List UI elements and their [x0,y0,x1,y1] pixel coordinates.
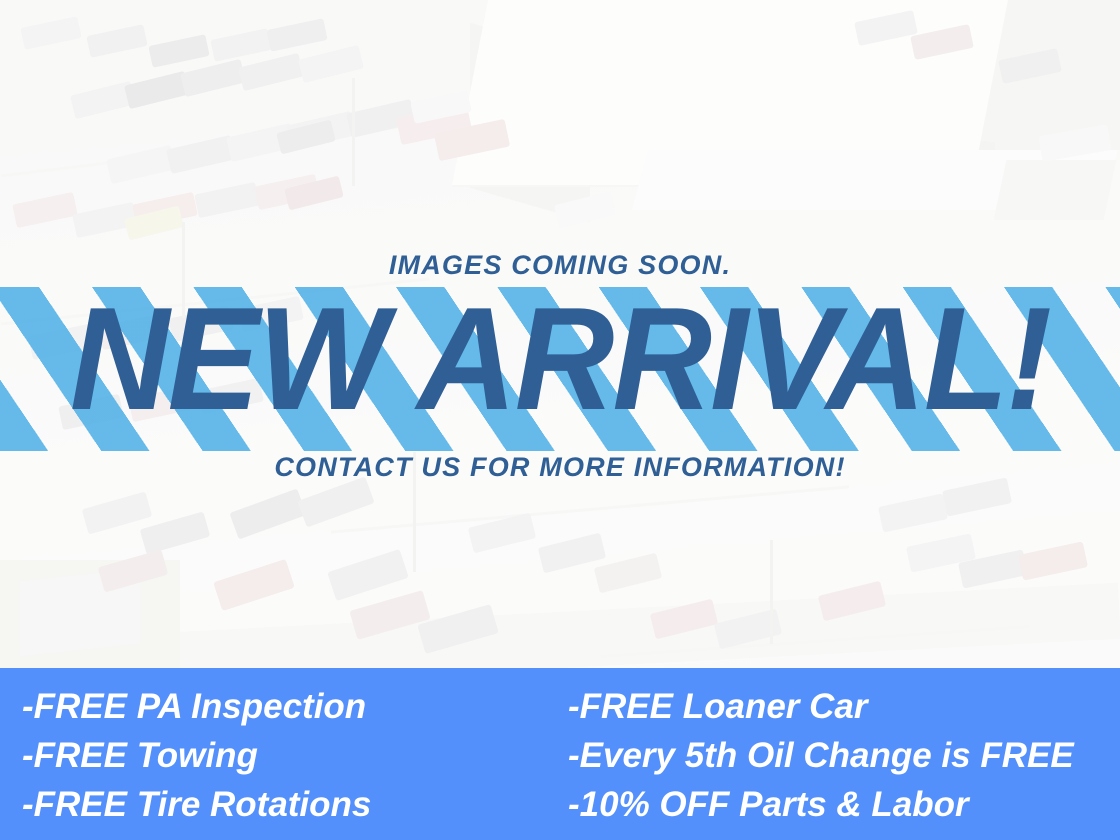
offer-item: -FREE Towing [22,731,560,780]
new-arrival-headline: NEW ARRIVAL! [0,286,1120,432]
images-coming-soon-caption: IMAGES COMING SOON. [0,250,1120,281]
offers-column-right: -FREE Loaner Car -Every 5th Oil Change i… [560,682,1120,829]
contact-us-caption: CONTACT US FOR MORE INFORMATION! [0,452,1120,483]
offer-item: -FREE Tire Rotations [22,780,560,829]
offer-item: -FREE PA Inspection [22,682,560,731]
offers-column-left: -FREE PA Inspection -FREE Towing -FREE T… [0,682,560,829]
service-offers-banner: -FREE PA Inspection -FREE Towing -FREE T… [0,668,1120,840]
offer-item: -Every 5th Oil Change is FREE [568,731,1120,780]
listing-placeholder-image: IMAGES COMING SOON. NEW ARRIVAL! CONTACT… [0,0,1120,840]
offer-item: -10% OFF Parts & Labor [568,780,1120,829]
offer-item: -FREE Loaner Car [568,682,1120,731]
